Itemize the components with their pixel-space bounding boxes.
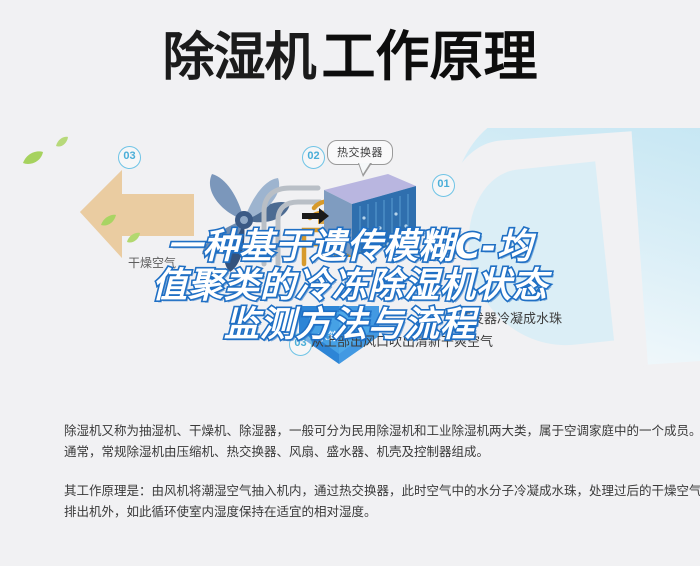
flow-arrow-icon	[302, 208, 330, 224]
flow-arrow-up-icon	[256, 236, 270, 262]
heat-exchanger-callout-label: 热交换器	[337, 146, 383, 159]
page-title: 除湿机工作原理	[0, 28, 700, 87]
label-evaporator-note: 蒸发器冷凝成水珠	[458, 308, 562, 327]
page-title-light: 除湿机	[162, 28, 315, 88]
body-copy: 除湿机又称为抽湿机、干燥机、除湿器，一般可分为民用除湿机和工业除湿机两大类，属于…	[32, 420, 672, 540]
leaf-icon	[55, 136, 69, 148]
diagram-badge-01: 01	[432, 174, 455, 197]
leaf-icon	[126, 232, 141, 244]
dehumidifier-diagram: 01 02 03 03 热交换器 干燥空气 潮湿空气 水箱 蒸发器冷凝成水珠 从…	[0, 128, 700, 400]
body-paragraph-1: 除湿机又称为抽湿机、干燥机、除湿器，一般可分为民用除湿机和工业除湿机两大类，属于…	[64, 420, 700, 462]
label-outlet-note: 从上部出风口吹出清新干爽空气	[311, 331, 493, 350]
callout-tail-inner-icon	[359, 163, 370, 174]
heat-exchanger-callout: 热交换器	[327, 140, 393, 165]
diagram-badge-02: 02	[302, 146, 325, 169]
diagram-badge-03-outlet: 03	[289, 333, 312, 356]
diagram-badge-03: 03	[118, 146, 141, 169]
page-title-bold: 工作原理	[322, 25, 538, 88]
leaf-icon	[22, 150, 44, 166]
label-dry-air: 干燥空气	[128, 254, 176, 271]
label-humid-air: 潮湿空气	[424, 246, 468, 262]
page-root: 除湿机工作原理	[0, 0, 700, 566]
leaf-icon	[100, 214, 117, 227]
body-paragraph-2: 其工作原理是：由风机将潮湿空气抽入机内，通过热交换器，此时空气中的水分子冷凝成水…	[64, 480, 700, 522]
